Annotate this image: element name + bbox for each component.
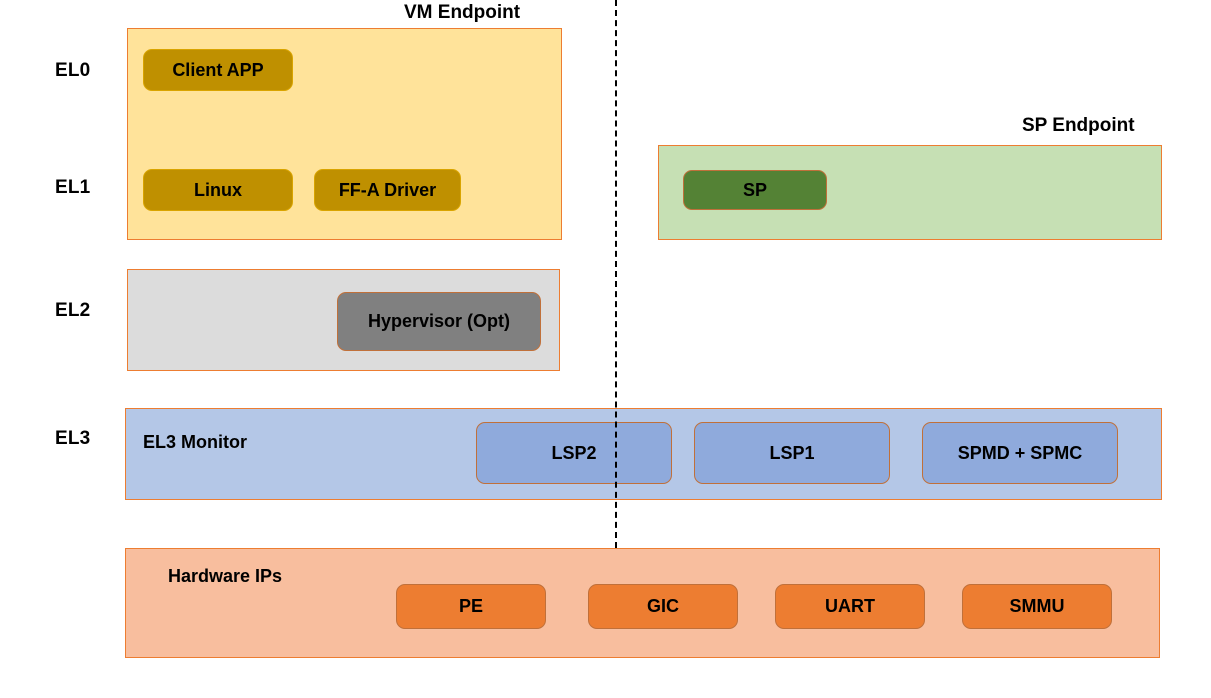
component-ffa-driver-label: FF-A Driver	[339, 180, 436, 201]
component-lsp2-label: LSP2	[551, 443, 596, 464]
el3-monitor-title: EL3 Monitor	[143, 432, 247, 453]
component-sp[interactable]: SP	[683, 170, 827, 210]
component-uart-label: UART	[825, 596, 875, 617]
component-lsp2[interactable]: LSP2	[476, 422, 672, 484]
exception-level-label-el3: EL3	[55, 428, 90, 450]
exception-level-label-el0: EL0	[55, 60, 90, 82]
component-client-app[interactable]: Client APP	[143, 49, 293, 91]
component-sp-label: SP	[743, 180, 767, 201]
component-pe-label: PE	[459, 596, 483, 617]
architecture-diagram-canvas: EL0 EL1 EL2 EL3 VM Endpoint SP Endpoint …	[0, 0, 1211, 698]
vm-endpoint-caption: VM Endpoint	[404, 2, 520, 24]
component-client-app-label: Client APP	[172, 60, 263, 81]
component-hypervisor[interactable]: Hypervisor (Opt)	[337, 292, 541, 351]
hardware-ips-region: Hardware IPs PE GIC UART SMMU	[125, 548, 1160, 658]
component-smmu[interactable]: SMMU	[962, 584, 1112, 629]
component-lsp1-label: LSP1	[769, 443, 814, 464]
hardware-ips-title: Hardware IPs	[168, 566, 282, 587]
component-hypervisor-label: Hypervisor (Opt)	[368, 311, 510, 332]
component-pe[interactable]: PE	[396, 584, 546, 629]
sp-endpoint-region: SP	[658, 145, 1162, 240]
component-gic[interactable]: GIC	[588, 584, 738, 629]
sp-endpoint-caption: SP Endpoint	[1022, 115, 1135, 137]
component-gic-label: GIC	[647, 596, 679, 617]
component-uart[interactable]: UART	[775, 584, 925, 629]
el2-region: Hypervisor (Opt)	[127, 269, 560, 371]
component-lsp1[interactable]: LSP1	[694, 422, 890, 484]
component-linux-label: Linux	[194, 180, 242, 201]
secure-world-divider	[615, 0, 617, 548]
vm-endpoint-region: Client APP Linux FF-A Driver	[127, 28, 562, 240]
component-ffa-driver[interactable]: FF-A Driver	[314, 169, 461, 211]
component-linux[interactable]: Linux	[143, 169, 293, 211]
exception-level-label-el1: EL1	[55, 177, 90, 199]
component-smmu-label: SMMU	[1010, 596, 1065, 617]
component-spmd-spmc-label: SPMD + SPMC	[958, 443, 1083, 464]
el3-monitor-region: EL3 Monitor LSP2 LSP1 SPMD + SPMC	[125, 408, 1162, 500]
exception-level-label-el2: EL2	[55, 300, 90, 322]
component-spmd-spmc[interactable]: SPMD + SPMC	[922, 422, 1118, 484]
